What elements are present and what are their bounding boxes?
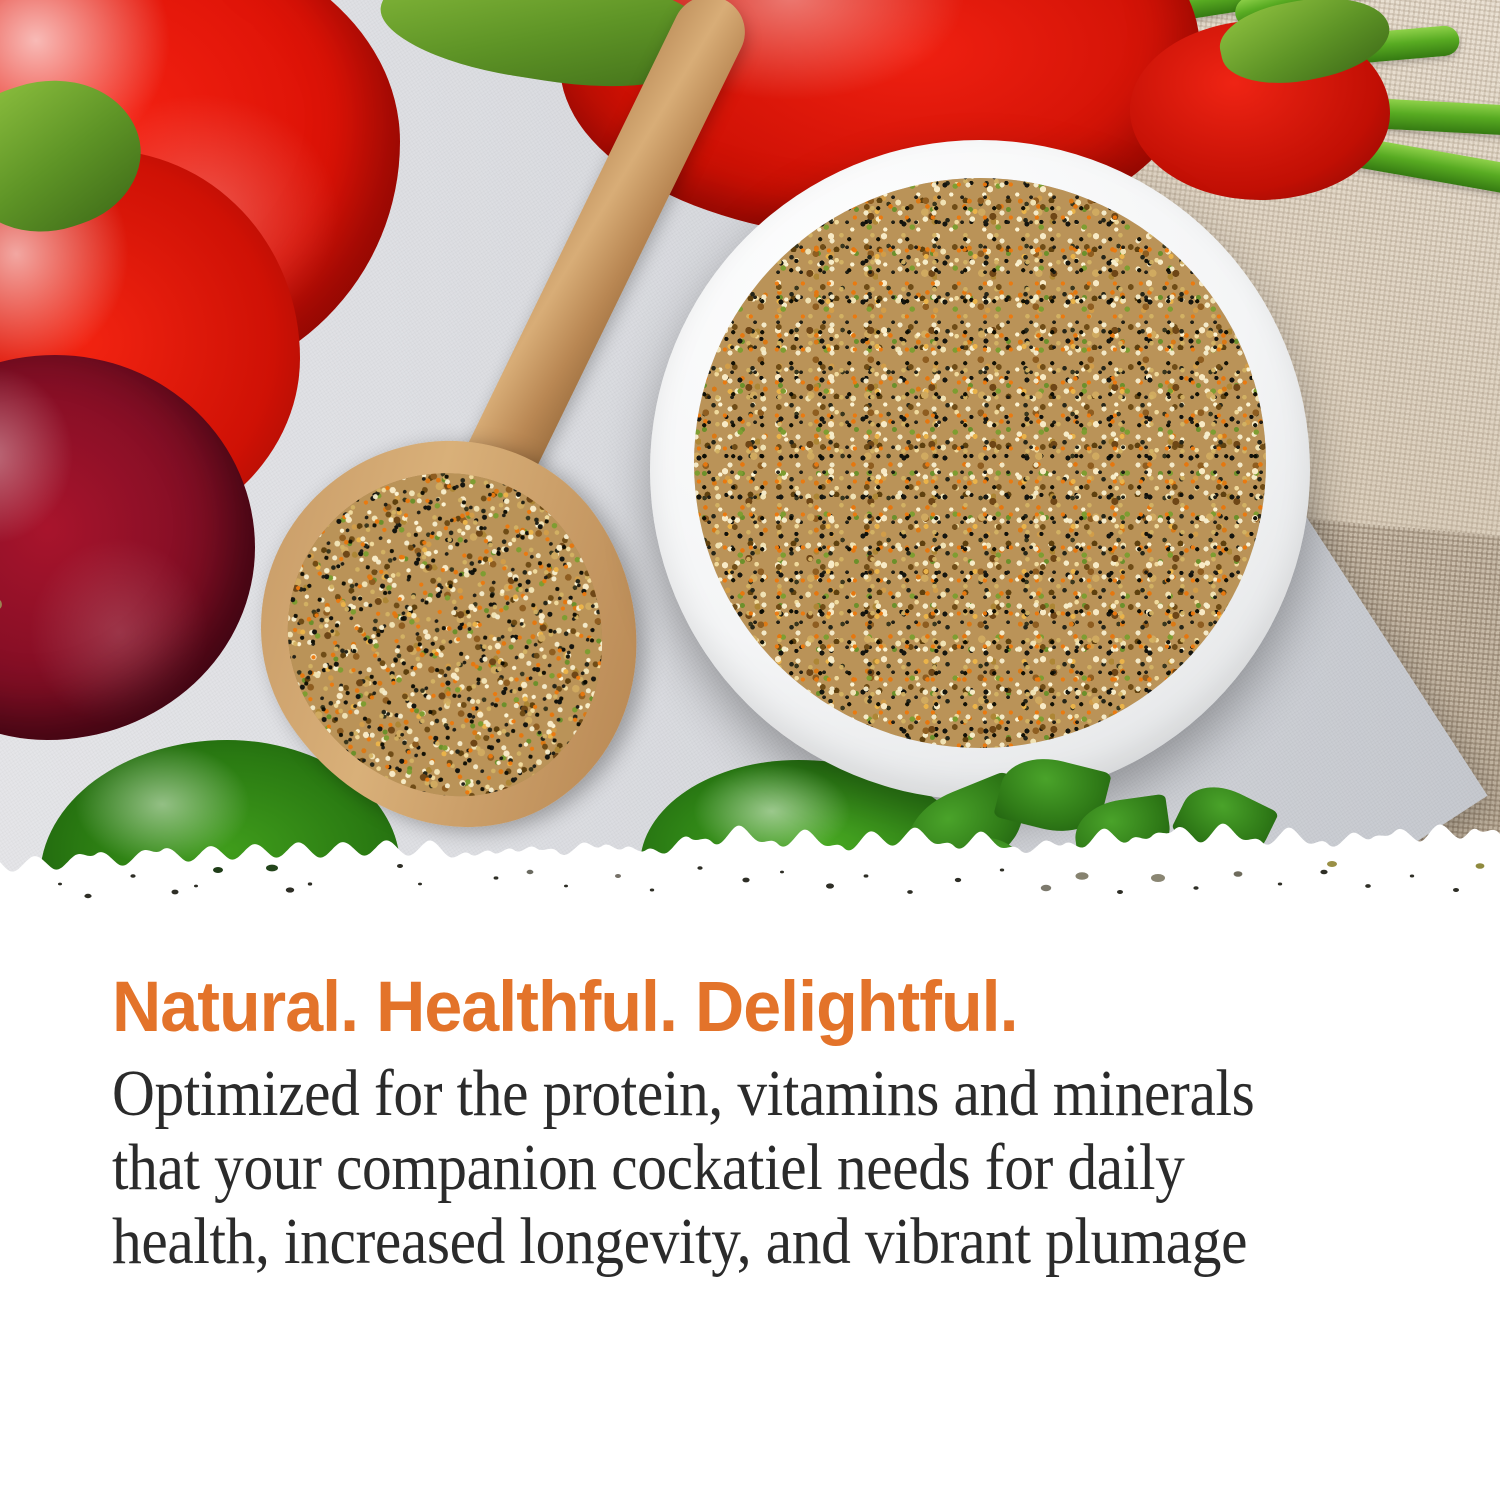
marketing-banner: Natural. Healthful. Delightful. Optimize…: [0, 0, 1500, 1500]
product-lifestyle-photo: [0, 0, 1500, 900]
bird-seed-texture: [694, 178, 1266, 748]
body-copy: Optimized for the protein, vitamins and …: [112, 1057, 1271, 1279]
apple-stem: [0, 598, 2, 616]
headline: Natural. Healthful. Delightful.: [112, 972, 1348, 1043]
seed-mix-in-bowl: [694, 178, 1266, 748]
white-ceramic-bowl: [650, 140, 1310, 800]
copy-block: Natural. Healthful. Delightful. Optimize…: [0, 900, 1500, 1500]
